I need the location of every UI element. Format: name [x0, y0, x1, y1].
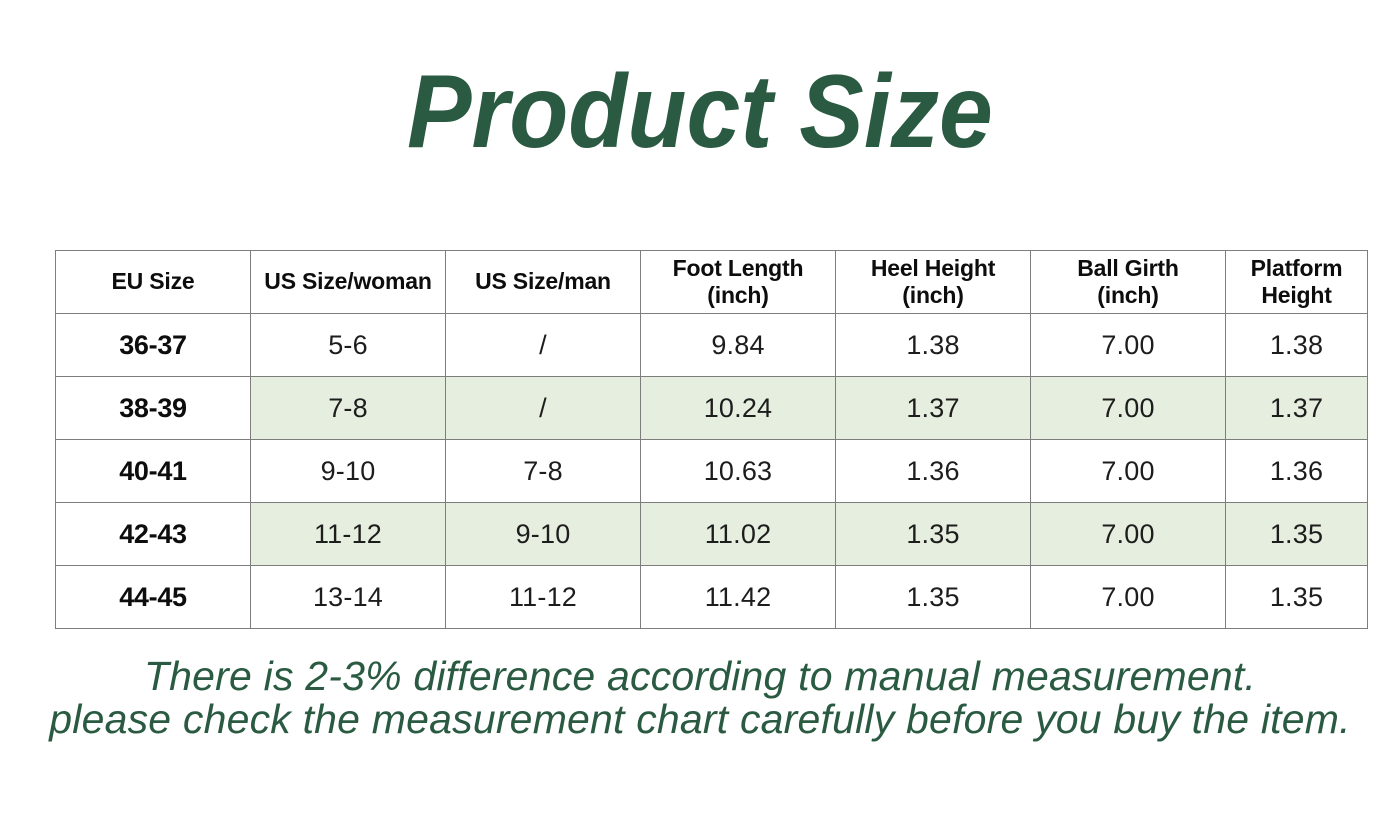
column-header-platform-height: Platform Height: [1226, 251, 1368, 314]
table-row: 40-41 9-10 7-8 10.63 1.36 7.00 1.36: [56, 440, 1368, 503]
cell-platform-height: 1.35: [1226, 503, 1368, 566]
cell-us-size-woman: 5-6: [251, 314, 446, 377]
cell-foot-length: 11.42: [641, 566, 836, 629]
cell-heel-height: 1.38: [836, 314, 1031, 377]
cell-ball-girth: 7.00: [1031, 314, 1226, 377]
cell-ball-girth: 7.00: [1031, 503, 1226, 566]
cell-heel-height: 1.35: [836, 566, 1031, 629]
measurement-disclaimer: There is 2-3% difference according to ma…: [0, 655, 1400, 742]
column-header-foot-length: Foot Length (inch): [641, 251, 836, 314]
column-header-heel-height: Heel Height (inch): [836, 251, 1031, 314]
cell-us-size-woman: 7-8: [251, 377, 446, 440]
cell-foot-length: 9.84: [641, 314, 836, 377]
column-header-us-size-man: US Size/man: [446, 251, 641, 314]
column-header-line-1: Heel Height: [840, 255, 1026, 282]
column-header-line-2: (inch): [645, 282, 831, 309]
column-header-ball-girth: Ball Girth (inch): [1031, 251, 1226, 314]
cell-eu-size: 36-37: [56, 314, 251, 377]
size-table-container: EU Size US Size/woman US Size/man Foot L…: [55, 250, 1367, 629]
cell-foot-length: 10.24: [641, 377, 836, 440]
column-header-line-1: EU Size: [60, 268, 246, 295]
cell-us-size-woman: 13-14: [251, 566, 446, 629]
disclaimer-line-1: There is 2-3% difference according to ma…: [0, 655, 1400, 698]
cell-ball-girth: 7.00: [1031, 440, 1226, 503]
column-header-line-2: (inch): [1035, 282, 1221, 309]
cell-us-size-man: 9-10: [446, 503, 641, 566]
cell-eu-size: 38-39: [56, 377, 251, 440]
cell-us-size-man: 7-8: [446, 440, 641, 503]
column-header-line-1: Ball Girth: [1035, 255, 1221, 282]
cell-heel-height: 1.36: [836, 440, 1031, 503]
column-header-line-2: (inch): [840, 282, 1026, 309]
column-header-line-2: Height: [1230, 282, 1363, 309]
column-header-line-1: Platform: [1230, 255, 1363, 282]
cell-us-size-woman: 9-10: [251, 440, 446, 503]
column-header-eu-size: EU Size: [56, 251, 251, 314]
column-header-line-1: US Size/woman: [255, 268, 441, 295]
cell-platform-height: 1.37: [1226, 377, 1368, 440]
cell-us-size-man: /: [446, 377, 641, 440]
size-chart-page: Product Size EU Size US Size/woman US Si…: [0, 0, 1400, 840]
table-row: 44-45 13-14 11-12 11.42 1.35 7.00 1.35: [56, 566, 1368, 629]
disclaimer-line-2: please check the measurement chart caref…: [0, 698, 1400, 741]
page-title-container: Product Size: [0, 58, 1400, 167]
cell-us-size-man: /: [446, 314, 641, 377]
cell-ball-girth: 7.00: [1031, 377, 1226, 440]
cell-ball-girth: 7.00: [1031, 566, 1226, 629]
cell-heel-height: 1.35: [836, 503, 1031, 566]
cell-eu-size: 42-43: [56, 503, 251, 566]
cell-eu-size: 40-41: [56, 440, 251, 503]
table-header: EU Size US Size/woman US Size/man Foot L…: [56, 251, 1368, 314]
cell-platform-height: 1.35: [1226, 566, 1368, 629]
column-header-line-1: Foot Length: [645, 255, 831, 282]
cell-foot-length: 11.02: [641, 503, 836, 566]
table-row: 38-39 7-8 / 10.24 1.37 7.00 1.37: [56, 377, 1368, 440]
cell-platform-height: 1.36: [1226, 440, 1368, 503]
cell-eu-size: 44-45: [56, 566, 251, 629]
cell-us-size-woman: 11-12: [251, 503, 446, 566]
table-row: 36-37 5-6 / 9.84 1.38 7.00 1.38: [56, 314, 1368, 377]
table-header-row: EU Size US Size/woman US Size/man Foot L…: [56, 251, 1368, 314]
cell-us-size-man: 11-12: [446, 566, 641, 629]
cell-platform-height: 1.38: [1226, 314, 1368, 377]
cell-foot-length: 10.63: [641, 440, 836, 503]
page-title: Product Size: [407, 58, 993, 167]
table-row: 42-43 11-12 9-10 11.02 1.35 7.00 1.35: [56, 503, 1368, 566]
column-header-line-1: US Size/man: [450, 268, 636, 295]
cell-heel-height: 1.37: [836, 377, 1031, 440]
table-body: 36-37 5-6 / 9.84 1.38 7.00 1.38 38-39 7-…: [56, 314, 1368, 629]
size-table: EU Size US Size/woman US Size/man Foot L…: [55, 250, 1368, 629]
column-header-us-size-woman: US Size/woman: [251, 251, 446, 314]
